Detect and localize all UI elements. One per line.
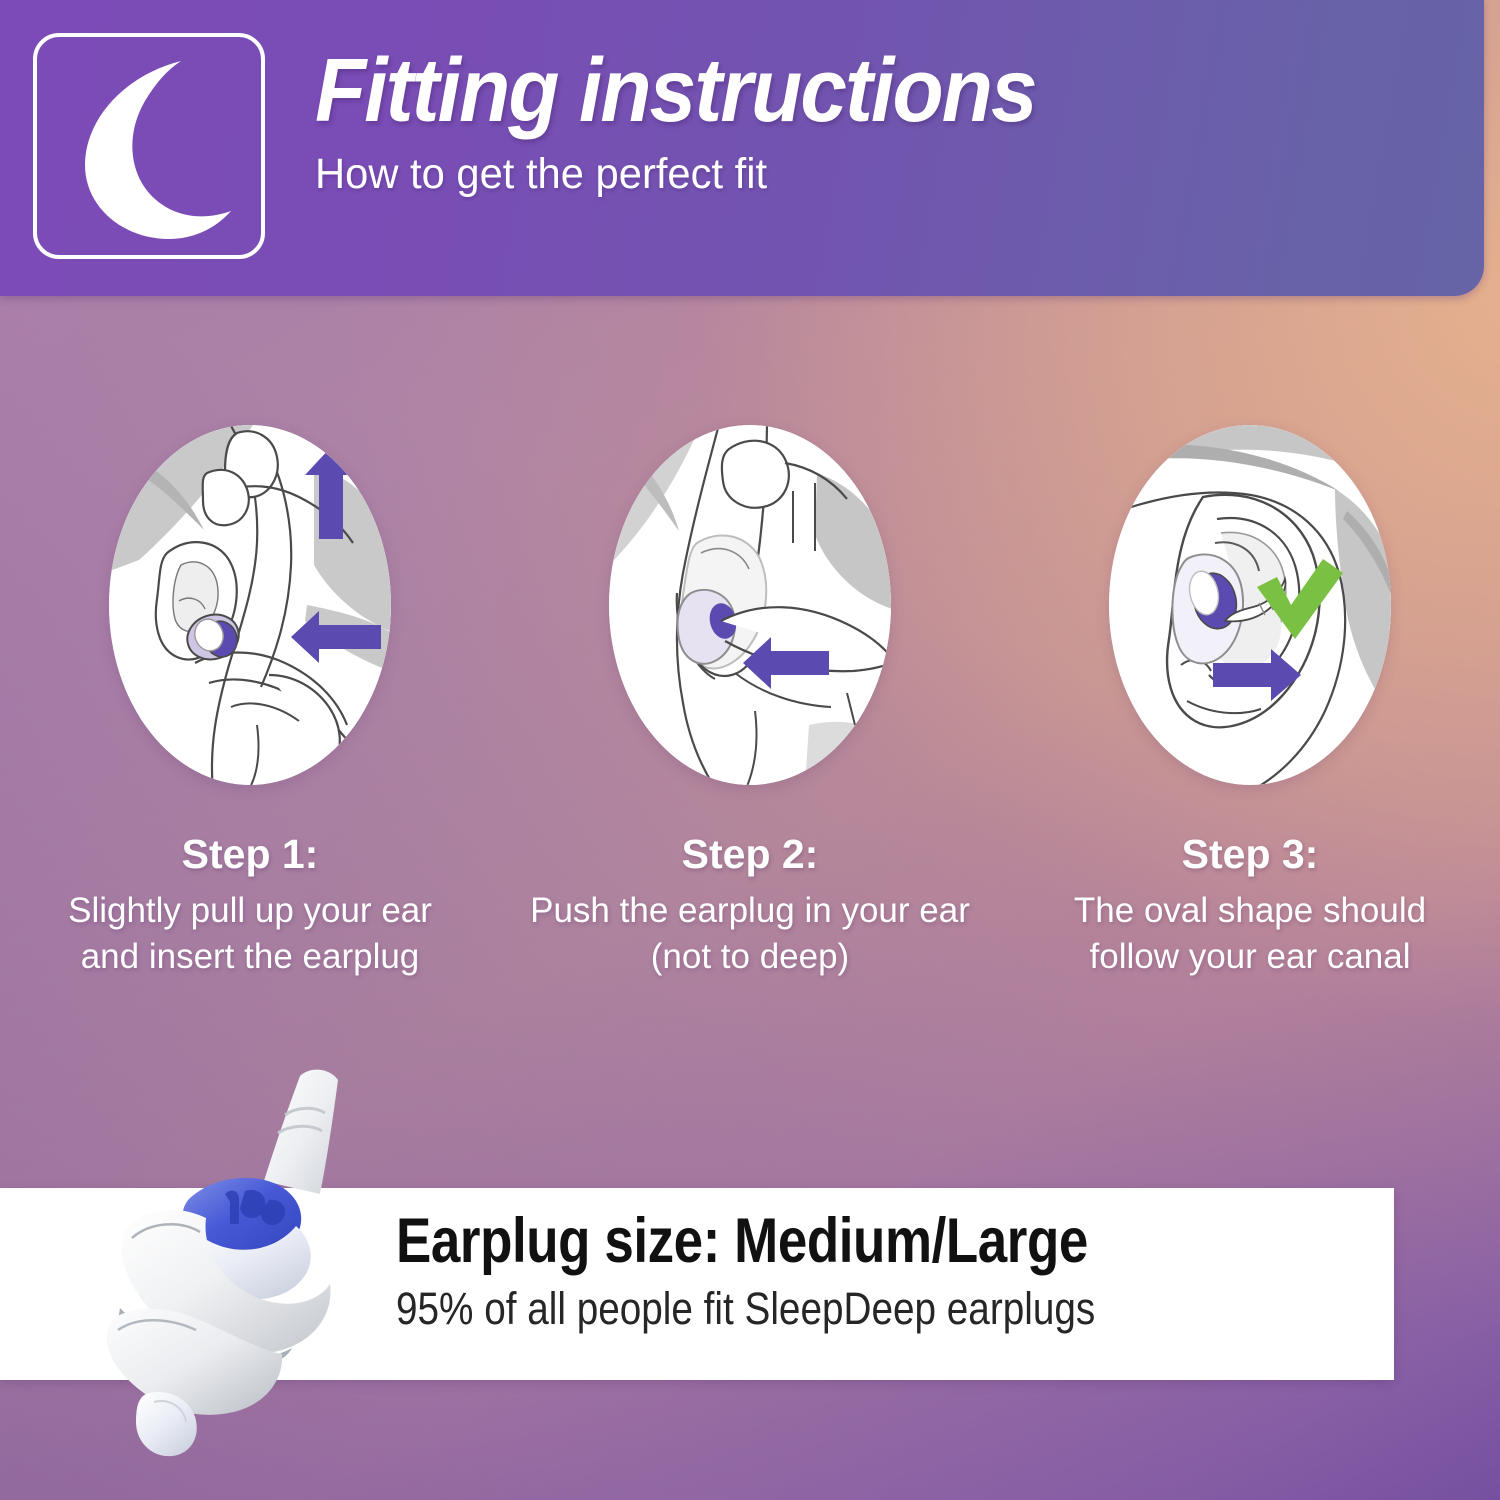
step-1-line-2: and insert the earplug (68, 934, 432, 980)
step-item-2: Step 2: Push the earplug in your ear (no… (500, 425, 1000, 980)
ear-pull-up-illustration (109, 425, 391, 785)
earplug-size-title: Earplug size: Medium/Large (396, 1208, 1202, 1275)
earplug-product-photo (82, 1058, 432, 1458)
step-1-description: Slightly pull up your ear and insert the… (68, 888, 432, 980)
step-1-title: Step 1: (182, 831, 319, 878)
step-item-3: Step 3: The oval shape should follow you… (1000, 425, 1500, 980)
moon-logo-box (33, 33, 265, 259)
size-banner-text: Earplug size: Medium/Large 95% of all pe… (396, 1208, 1356, 1335)
steps-row: Step 1: Slightly pull up your ear and in… (0, 425, 1500, 980)
page-title: Fitting instructions (315, 46, 1338, 136)
earplug-seated-illustration (1109, 425, 1391, 785)
earplug-size-subtitle: 95% of all people fit SleepDeep earplugs (396, 1283, 1222, 1335)
step-2-title: Step 2: (682, 831, 819, 878)
header-text-group: Fitting instructions How to get the perf… (315, 46, 1415, 199)
step-1-illustration (109, 425, 391, 785)
page-subtitle: How to get the perfect fit (315, 150, 1382, 199)
step-3-line-1: The oval shape should (1074, 888, 1426, 934)
step-3-line-2: follow your ear canal (1074, 934, 1426, 980)
header-bar: Fitting instructions How to get the perf… (0, 0, 1484, 296)
step-2-line-1: Push the earplug in your ear (530, 888, 970, 934)
step-2-description: Push the earplug in your ear (not to dee… (530, 888, 970, 980)
step-2-illustration (609, 425, 891, 785)
step-3-illustration (1109, 425, 1391, 785)
step-3-title: Step 3: (1182, 831, 1319, 878)
step-3-description: The oval shape should follow your ear ca… (1074, 888, 1426, 980)
earplug-push-illustration (609, 425, 891, 785)
step-item-1: Step 1: Slightly pull up your ear and in… (0, 425, 500, 980)
step-2-line-2: (not to deep) (530, 934, 970, 980)
crescent-moon-icon (63, 57, 243, 243)
step-1-line-1: Slightly pull up your ear (68, 888, 432, 934)
